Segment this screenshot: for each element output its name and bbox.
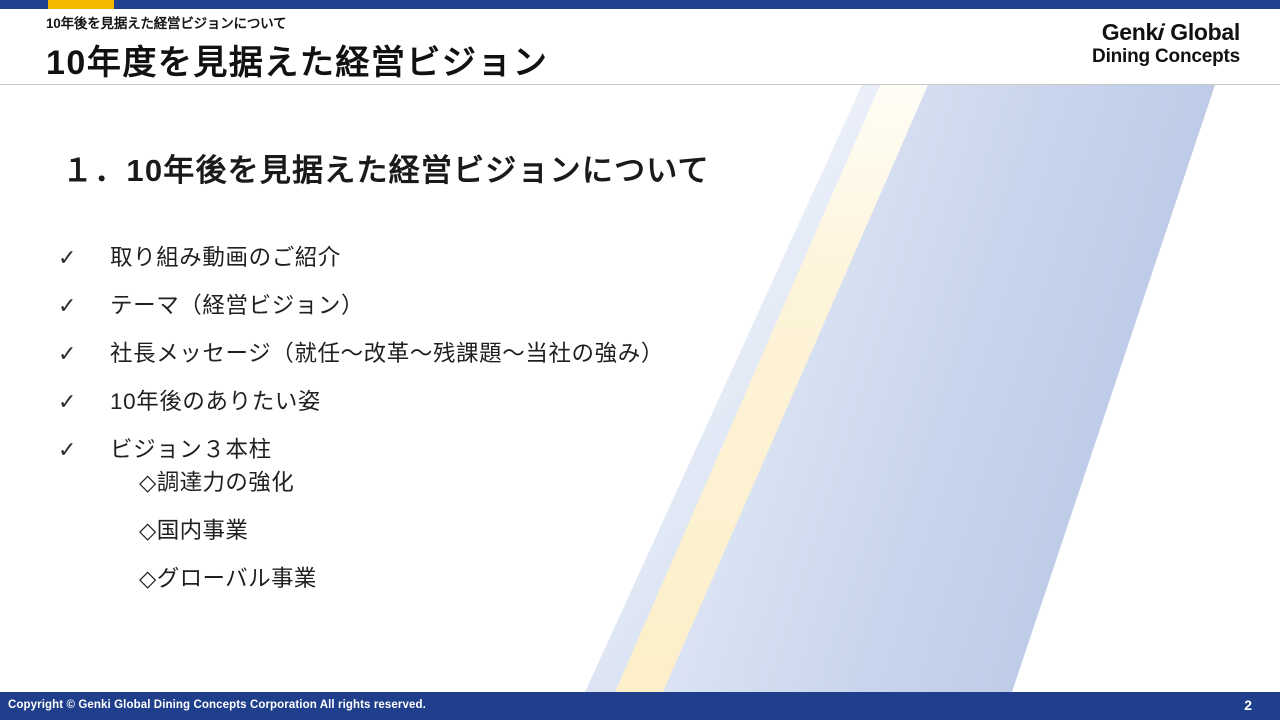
logo-line-secondary: Dining Concepts xyxy=(1092,46,1240,68)
check-icon: ✓ xyxy=(58,439,110,461)
check-icon: ✓ xyxy=(58,295,110,317)
gold-accent-block xyxy=(48,0,114,9)
list-item: ✓ 10年後のありたい姿 xyxy=(58,384,958,432)
list-item-label: ビジョン３本柱 xyxy=(110,432,272,464)
sub-item-list: ◇調達力の強化 ◇国内事業 ◇グローバル事業 xyxy=(139,465,839,609)
list-item: ✓ 取り組み動画のご紹介 xyxy=(58,240,958,288)
list-item-label: 社長メッセージ（就任〜改革〜残課題〜当社の強み） xyxy=(110,336,664,368)
logo-text-genk: Genk xyxy=(1102,19,1158,45)
sub-list-item: ◇調達力の強化 xyxy=(139,465,839,513)
list-item-label: 取り組み動画のご紹介 xyxy=(110,240,341,272)
top-accent-bar xyxy=(0,0,1280,9)
list-item: ✓ 社長メッセージ（就任〜改革〜残課題〜当社の強み） xyxy=(58,336,958,384)
page-number: 2 xyxy=(1244,697,1252,713)
header-kicker: 10年後を見据えた経営ビジョンについて xyxy=(46,12,286,32)
slide-footer: Copyright © Genki Global Dining Concepts… xyxy=(0,692,1280,720)
page-title: 10年度を見据えた経営ビジョン xyxy=(46,35,548,84)
list-item: ✓ テーマ（経営ビジョン） xyxy=(58,288,958,336)
company-logo: Genki Global Dining Concepts xyxy=(1092,19,1240,69)
slide-canvas: 10年後を見据えた経営ビジョンについて 10年度を見据えた経営ビジョン Genk… xyxy=(0,0,1280,720)
logo-line-primary: Genki Global xyxy=(1092,19,1240,46)
header-divider xyxy=(0,84,1280,85)
slide-header: 10年後を見据えた経営ビジョンについて 10年度を見据えた経営ビジョン xyxy=(0,9,1280,84)
list-item-label: テーマ（経営ビジョン） xyxy=(110,288,364,320)
logo-text-global: Global xyxy=(1164,19,1240,45)
sub-list-item: ◇国内事業 xyxy=(139,513,839,561)
check-icon: ✓ xyxy=(58,391,110,413)
check-icon: ✓ xyxy=(58,343,110,365)
sub-list-item: ◇グローバル事業 xyxy=(139,561,839,609)
slide-body: １．10年後を見据えた経営ビジョンについて ✓ 取り組み動画のご紹介 ✓ テーマ… xyxy=(0,85,1280,692)
section-heading: １．10年後を見据えた経営ビジョンについて xyxy=(62,145,710,190)
copyright-text: Copyright © Genki Global Dining Concepts… xyxy=(8,699,426,711)
bullet-list: ✓ 取り組み動画のご紹介 ✓ テーマ（経営ビジョン） ✓ 社長メッセージ（就任〜… xyxy=(58,240,958,480)
list-item-label: 10年後のありたい姿 xyxy=(110,384,321,416)
check-icon: ✓ xyxy=(58,247,110,269)
